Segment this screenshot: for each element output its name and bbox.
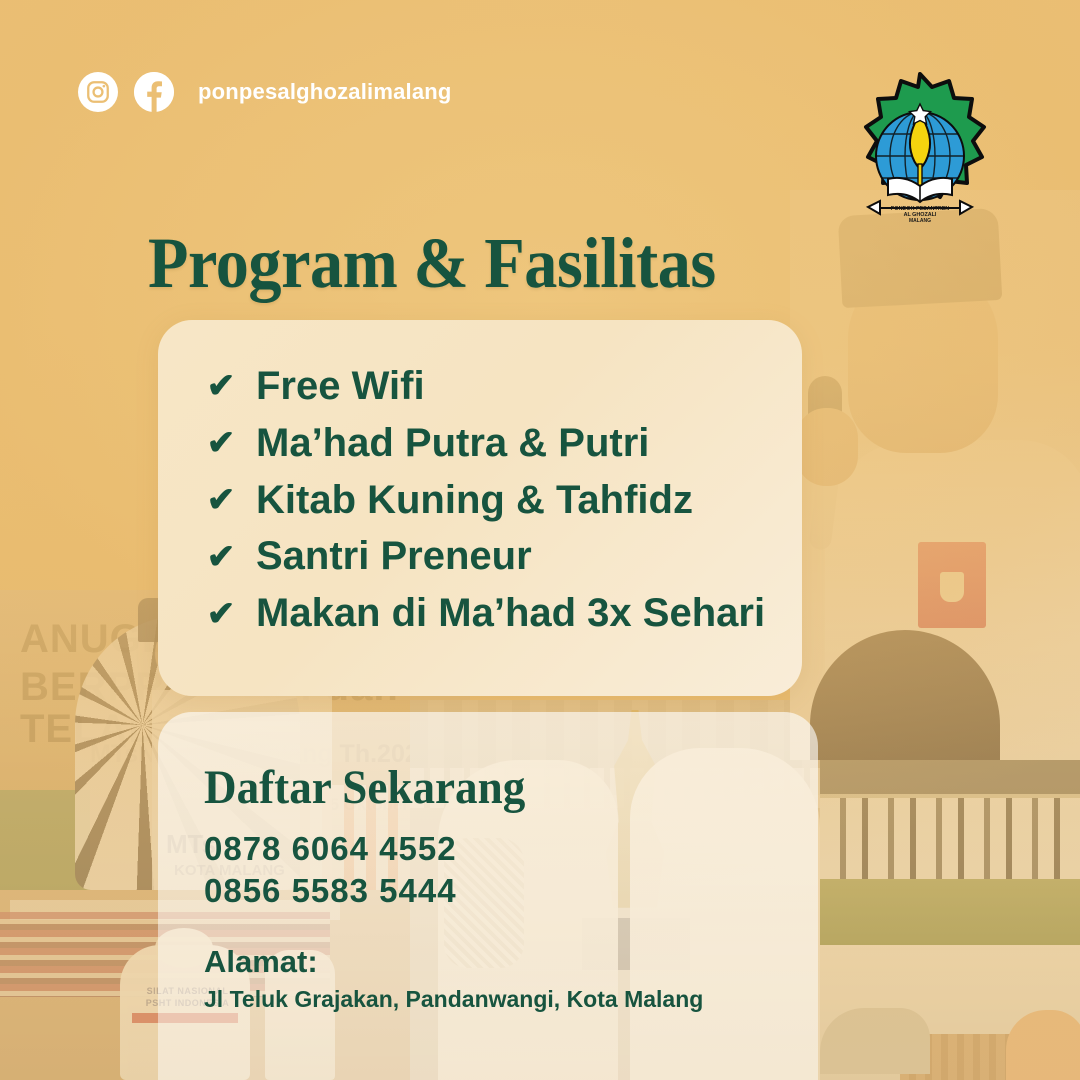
address-label: Alamat: <box>204 944 318 980</box>
feature-item: ✔ Kitab Kuning & Tahfidz <box>206 476 782 525</box>
address-value: Jl Teluk Grajakan, Pandanwangi, Kota Mal… <box>204 986 703 1013</box>
svg-text:MALANG: MALANG <box>909 218 931 224</box>
feature-item: ✔ Santri Preneur <box>206 532 782 581</box>
features-list: ✔ Free Wifi ✔ Ma’had Putra & Putri ✔ Kit… <box>206 362 782 638</box>
phone-list: 0878 6064 4552 0856 5583 5444 <box>204 830 457 910</box>
check-icon: ✔ <box>206 540 236 574</box>
pesantren-logo: PONDOK PESANTREN AL GHOZALI MALANG <box>832 68 1008 244</box>
instagram-icon[interactable] <box>78 72 118 112</box>
register-heading: Daftar Sekarang <box>204 760 525 815</box>
feature-label: Santri Preneur <box>256 532 532 581</box>
feature-label: Free Wifi <box>256 362 425 411</box>
feature-label: Makan di Ma’had 3x Sehari <box>256 589 765 638</box>
social-handle-text: ponpesalghozalimalang <box>198 79 452 105</box>
check-icon: ✔ <box>206 597 236 631</box>
contact-card: Daftar Sekarang 0878 6064 4552 0856 5583… <box>158 712 818 1080</box>
feature-label: Ma’had Putra & Putri <box>256 419 649 468</box>
poster-canvas: ANUGERAH SISWA BERPRESTASI dan TELADAN M… <box>0 0 1080 1080</box>
facebook-icon[interactable] <box>134 72 174 112</box>
check-icon: ✔ <box>206 369 236 403</box>
feature-item: ✔ Ma’had Putra & Putri <box>206 419 782 468</box>
social-handle-row: ponpesalghozalimalang <box>78 72 452 112</box>
feature-item: ✔ Free Wifi <box>206 362 782 411</box>
feature-label: Kitab Kuning & Tahfidz <box>256 476 693 525</box>
phone-number[interactable]: 0878 6064 4552 <box>204 830 457 868</box>
phone-number[interactable]: 0856 5583 5444 <box>204 872 457 910</box>
check-icon: ✔ <box>206 483 236 517</box>
page-title: Program & Fasilitas <box>148 222 716 305</box>
check-icon: ✔ <box>206 426 236 460</box>
feature-item: ✔ Makan di Ma’had 3x Sehari <box>206 589 782 638</box>
features-card: ✔ Free Wifi ✔ Ma’had Putra & Putri ✔ Kit… <box>158 320 802 696</box>
